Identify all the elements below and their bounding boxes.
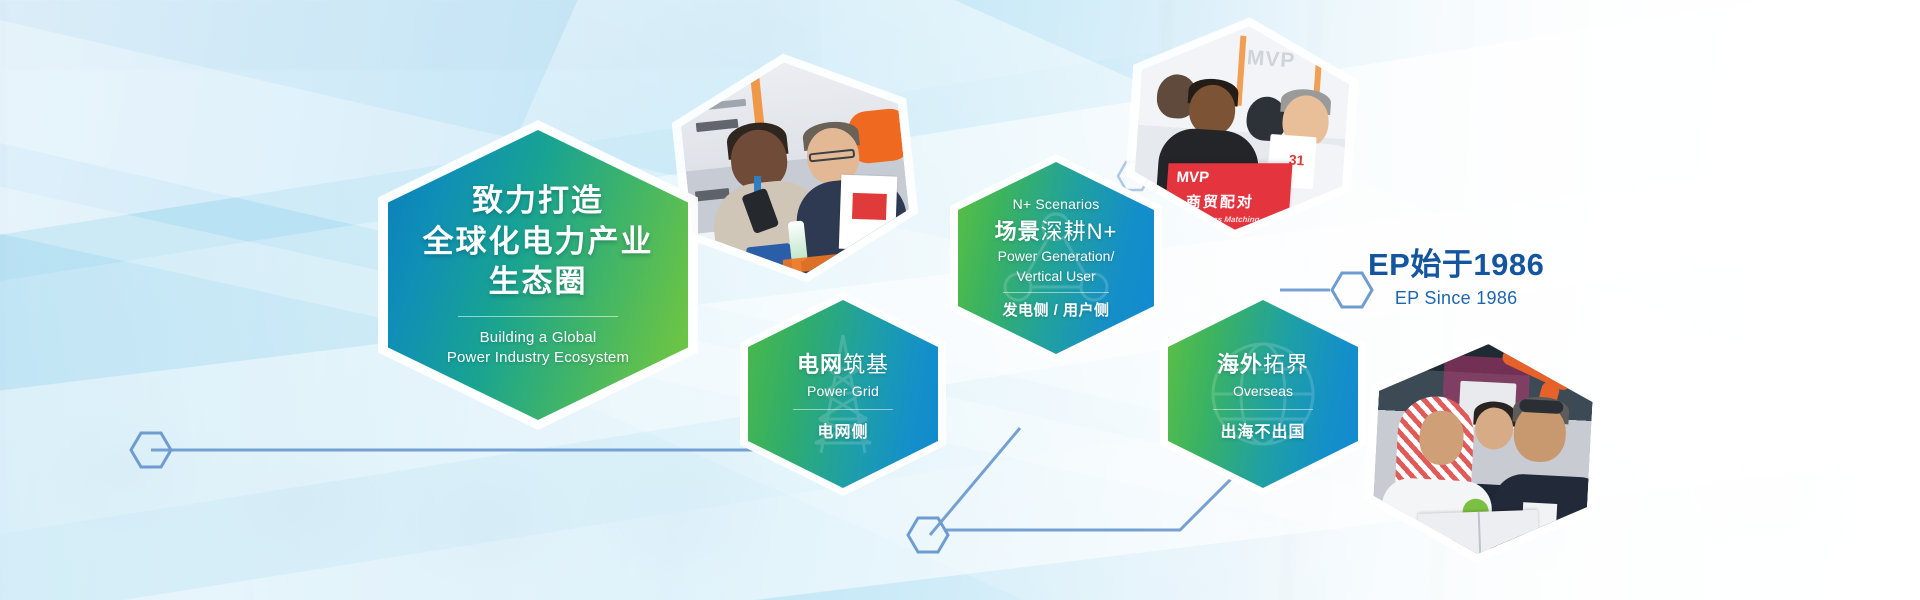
power-grid-cn-title: 电网筑基 (797, 347, 889, 379)
overseas-cn-tag: 出海不出国 (1220, 418, 1305, 442)
photo-hexagon-business-matching: MVP 31 MVP 商贸配对 Business Matching (1131, 19, 1353, 237)
banner-root: MVP 31 MVP 商贸配对 Business Matching (0, 0, 1920, 600)
power-grid-cn-tag: 电网侧 (817, 418, 868, 442)
power-grid-en-label: Power Grid (807, 383, 879, 399)
ep-since-cn: EP始于1986 (1368, 248, 1544, 282)
scenarios-en-line2: Vertical User (1016, 268, 1095, 286)
photo-hexagon-booth-signing (676, 51, 915, 285)
scenarios-en-line1: Power Generation/ (998, 248, 1115, 266)
scenarios-cn-title: 场景深耕N+ (995, 214, 1118, 246)
table-sign-mvp: MVP (1176, 169, 1210, 186)
connector-node-hexagon (1332, 273, 1372, 307)
main-hex-cn-line3: 生态圈 (489, 262, 588, 302)
photo-hexagon-international-visitors (1371, 339, 1596, 560)
ep-since-block: EP始于1986 EP Since 1986 (1368, 248, 1544, 309)
connector-node-hexagon (908, 518, 948, 552)
ep-since-en: EP Since 1986 (1368, 288, 1544, 309)
scenarios-cn-tag: 发电侧 / 用户侧 (1002, 299, 1109, 320)
overseas-divider (1213, 409, 1313, 410)
scenarios-divider (1003, 292, 1109, 293)
scenarios-en-top: N+ Scenarios (1013, 196, 1100, 212)
overseas-en-label: Overseas (1233, 383, 1293, 399)
photo-image-business-matching: MVP 31 MVP 商贸配对 Business Matching (1131, 19, 1353, 237)
main-hex-en-line2: Power Industry Ecosystem (447, 348, 629, 368)
overseas-cn-title: 海外拓界 (1217, 347, 1309, 379)
main-hex-cn-line2: 全球化电力产业 (423, 222, 654, 262)
photo-image-booth-signing (676, 51, 915, 285)
main-hex-cn-line1: 致力打造 (472, 181, 604, 221)
main-hex-en-line1: Building a Global (480, 328, 597, 348)
power-grid-divider (793, 409, 893, 410)
main-hex-divider (458, 316, 618, 317)
